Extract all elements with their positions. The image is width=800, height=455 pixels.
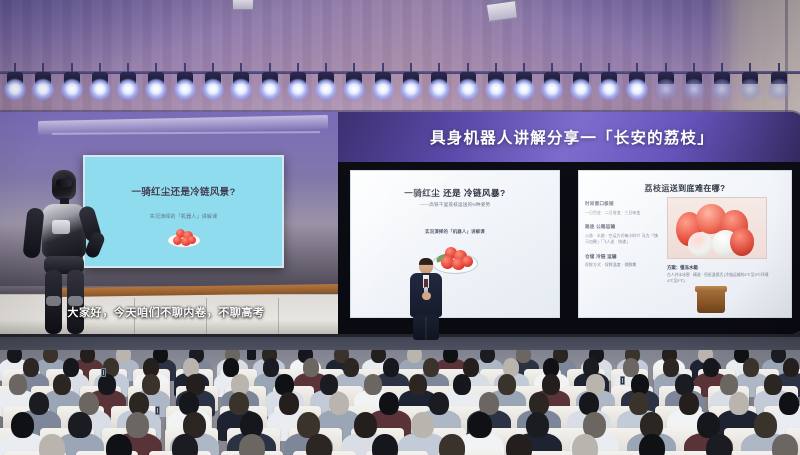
- lamp-glow: [174, 79, 196, 101]
- audience-person-head: [407, 350, 422, 363]
- lamp-glow: [32, 79, 54, 101]
- lychee-plate-icon: [167, 227, 201, 249]
- audience-person-head: [172, 434, 198, 455]
- audience-person-head: [98, 374, 116, 395]
- stage-lamp: [655, 72, 677, 102]
- stage-edge: [0, 334, 800, 337]
- stage-lamp: [343, 72, 365, 102]
- bullet-group-1: 时间窗口极短 一日色变 · 二日香变 · 三日味变: [585, 201, 659, 215]
- audience-person-head: [126, 412, 149, 438]
- stage-lamp: [145, 72, 167, 102]
- lamp-glow: [739, 79, 761, 101]
- stage-lamp: [230, 72, 252, 102]
- bullet-heading-1: 时间窗口极短: [585, 201, 659, 207]
- bullet-body-3: 保鲜方式 · 保鲜温度 · 保鲜期: [585, 262, 659, 268]
- in-room-display-subtitle: 实况演绎的「机器人」讲解课: [85, 213, 282, 220]
- lamp-glow: [372, 79, 394, 101]
- lamp-glow: [202, 79, 224, 101]
- lighting-truss: [0, 62, 800, 110]
- audience-person-head: [772, 434, 798, 455]
- audience-person-head: [743, 358, 760, 377]
- stage-lamp: [174, 72, 196, 102]
- stage-lamp: [428, 72, 450, 102]
- audience-person-head: [329, 392, 350, 415]
- lamp-glow: [655, 79, 677, 101]
- stage-lamp: [768, 72, 790, 102]
- audience-person-head: [409, 374, 427, 395]
- robot-visor: [56, 179, 72, 187]
- video-camera: [247, 350, 256, 360]
- audience-person-head: [572, 434, 598, 455]
- audience-person-head: [354, 412, 377, 438]
- lychee-photo-part-6: [730, 228, 754, 256]
- audience-person-head: [423, 358, 440, 377]
- lamp-glow: [541, 79, 563, 101]
- audience-person-head: [453, 374, 471, 395]
- stage-lamp: [89, 72, 111, 102]
- audience-person-head: [703, 358, 720, 377]
- wooden-crate-illustration: [697, 289, 725, 313]
- stage-lamp: [739, 72, 761, 102]
- led-left-video-feed: 一骑红尘还是冷链风景? 实况演绎的「机器人」讲解课: [0, 112, 338, 334]
- banner-title: 具身机器人讲解分享一「长安的荔枝」: [430, 126, 714, 148]
- audience-person-head: [239, 434, 265, 455]
- bullet-group-3: 仓储 冷链 运输 保鲜方式 · 保鲜温度 · 保鲜期: [585, 254, 659, 268]
- lamp-glow: [315, 79, 337, 101]
- audience-person-head: [783, 358, 800, 377]
- lamp-glow: [683, 79, 705, 101]
- slide-left-subtitle: ——高铁千里荔枝运送的N种姿势: [351, 202, 559, 208]
- smartphone: [620, 376, 625, 385]
- lamp-glow: [768, 79, 790, 101]
- stage-lamp: [4, 72, 26, 102]
- audience-person-head: [116, 350, 131, 363]
- audience-person-head: [754, 412, 777, 438]
- audience-person-head: [23, 358, 40, 377]
- audience-person-head: [80, 350, 95, 363]
- audience-person-head: [279, 392, 300, 415]
- lamp-glow: [117, 79, 139, 101]
- audience-person-head: [39, 434, 65, 455]
- audience-person-head: [663, 358, 680, 377]
- audience-person-head: [9, 374, 27, 395]
- lamp-glow: [61, 79, 83, 101]
- audience-person-head: [53, 374, 71, 395]
- presentation-banner: 具身机器人讲解分享一「长安的荔枝」: [338, 112, 800, 162]
- audience-person-head: [106, 434, 132, 455]
- presenter-trousers: [413, 315, 439, 340]
- audience-person-head: [480, 350, 495, 363]
- stage-lamp: [315, 72, 337, 102]
- stage-lamp: [372, 72, 394, 102]
- video-caption-subtitle: 大家好，今天咱们不聊内卷，不聊高考: [0, 304, 338, 320]
- presenter-head: [419, 258, 433, 274]
- audience-area: [0, 350, 800, 455]
- slide-card-left: 一骑红尘 还是 冷链风暴? ——高铁千里荔枝运送的N种姿势 实况演绎的「机器人」…: [350, 170, 560, 318]
- bullet-group-2: 路途 公路运输 公路 · 水路 · 空运方式每小时介 马力 ·「快马加鞭」·「飞…: [585, 224, 659, 244]
- audience-person-head: [29, 392, 50, 415]
- lamp-glow: [89, 79, 111, 101]
- stage-lamp: [626, 72, 648, 102]
- stage-lamp: [61, 72, 83, 102]
- audience-person-head: [383, 358, 400, 377]
- stage-lamp: [400, 72, 422, 102]
- audience-person-head: [516, 350, 531, 363]
- audience-person-head: [468, 412, 491, 438]
- stage-lamp: [570, 72, 592, 102]
- audience-person-head: [343, 358, 360, 377]
- stage-lamp: [457, 72, 479, 102]
- lamp-glow: [287, 79, 309, 101]
- audience-person-head: [306, 434, 332, 455]
- lamp-glow: [457, 79, 479, 101]
- lychee-photo-part-4: [688, 232, 712, 256]
- audience-person-head: [764, 374, 782, 395]
- audience-person-head: [506, 434, 532, 455]
- stage-lamp: [513, 72, 535, 102]
- bullet-body-1: 一日色变 · 二日香变 · 三日味变: [585, 210, 659, 216]
- bullet-heading-3: 仓储 冷链 运输: [585, 254, 659, 260]
- audience-person-head: [364, 374, 382, 395]
- presenter-hand: [422, 292, 431, 300]
- stage-lamp: [541, 72, 563, 102]
- slide-right-title: 荔枝运送到底难在哪?: [579, 183, 791, 194]
- ceiling-fixture-1: [232, 0, 254, 10]
- presenter: [404, 258, 448, 340]
- slide-card-right: 荔枝运送到底难在哪? 时间窗口极短 一日色变 · 二日香变 · 三日味变 路途 …: [578, 170, 792, 318]
- stage-lamp: [598, 72, 620, 102]
- stage-lamp: [32, 72, 54, 102]
- lamp-glow: [570, 79, 592, 101]
- bullet-body-2: 公路 · 水路 · 空运方式每小时介 马力 ·「快马加鞭」·「飞人送 · 快递」: [585, 233, 659, 245]
- stage-lamp: [259, 72, 281, 102]
- lamp-glow: [711, 79, 733, 101]
- smartphone: [101, 368, 106, 377]
- lychee-photo: [667, 197, 767, 259]
- lamp-glow: [343, 79, 365, 101]
- lamp-glow: [626, 79, 648, 101]
- audience-person-head: [526, 412, 549, 438]
- stage-lamp: [485, 72, 507, 102]
- in-room-display: 一骑红尘还是冷链风景? 实况演绎的「机器人」讲解课: [83, 155, 284, 268]
- slide-left-title: 一骑红尘 还是 冷链风暴?: [351, 187, 559, 199]
- in-room-display-title: 一骑红尘还是冷链风景?: [85, 184, 282, 198]
- stage-lamp: [117, 72, 139, 102]
- audience-person-head: [263, 358, 280, 377]
- bullet-heading-2: 路途 公路运输: [585, 224, 659, 230]
- audience-person-head: [779, 392, 800, 415]
- audience-person-head: [411, 412, 434, 438]
- smartphone: [155, 406, 160, 415]
- caption-body: 古人井水冰窖 · 精准 · 恒低温保活 (冷链运输的4℃至5℃环境 4℃至5℃): [667, 273, 771, 285]
- audience-person-head: [379, 392, 400, 415]
- slide-right-bullet-column: 时间窗口极短 一日色变 · 二日香变 · 三日味变 路途 公路运输 公路 · 水…: [585, 201, 659, 277]
- lamp-glow: [485, 79, 507, 101]
- lamp-glow: [513, 79, 535, 101]
- audience-person-head: [429, 392, 450, 415]
- audience-person-head: [639, 434, 665, 455]
- audience-person-head: [679, 392, 700, 415]
- robot-chest-plate: [52, 220, 70, 234]
- lamp-glow: [428, 79, 450, 101]
- audience-person-head: [68, 412, 91, 438]
- lamp-glow: [259, 79, 281, 101]
- audience-person-head: [11, 412, 34, 438]
- audience-person-head: [729, 392, 750, 415]
- conference-stage-scene: 一骑红尘还是冷链风景? 实况演绎的「机器人」讲解课: [0, 0, 800, 455]
- lamp-glow: [145, 79, 167, 101]
- lychee-5: [462, 256, 473, 267]
- audience-person-head: [372, 434, 398, 455]
- audience-person-head: [439, 434, 465, 455]
- audience-person-head: [706, 434, 732, 455]
- audience-person-head: [142, 374, 160, 395]
- caption-heading: 方案：慢冻水箱: [667, 265, 771, 271]
- audience-person-head: [542, 374, 560, 395]
- audience-person-head: [303, 358, 320, 377]
- stage-lamp: [683, 72, 705, 102]
- slide-left-note: 实况演绎的「机器人」讲解课: [351, 229, 559, 235]
- stage-lamp: [287, 72, 309, 102]
- lychee-5: [188, 236, 196, 244]
- led-video-wall: 一骑红尘还是冷链风景? 实况演绎的「机器人」讲解课: [0, 112, 800, 334]
- lamp-glow: [400, 79, 422, 101]
- slide-right-caption: 方案：慢冻水箱 古人井水冰窖 · 精准 · 恒低温保活 (冷链运输的4℃至5℃环…: [667, 265, 771, 285]
- stage-lamp: [711, 72, 733, 102]
- stage-lamp: [202, 72, 224, 102]
- lamp-glow: [4, 79, 26, 101]
- lamp-glow: [598, 79, 620, 101]
- audience-person-head: [7, 350, 22, 363]
- audience-person-head: [498, 374, 516, 395]
- lamp-glow: [230, 79, 252, 101]
